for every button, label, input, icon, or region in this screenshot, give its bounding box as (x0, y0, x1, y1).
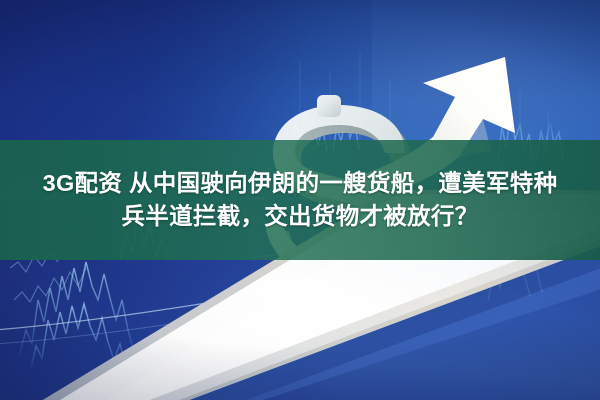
title-line-2: 兵半道拦截，交出货物才被放行？ (122, 200, 479, 233)
banner-image: 3G配资 从中国驶向伊朗的一艘货船，遭美军特种 兵半道拦截，交出货物才被放行？ (0, 0, 600, 400)
title-line-1: 3G配资 从中国驶向伊朗的一艘货船，遭美军特种 (43, 167, 558, 200)
title-band: 3G配资 从中国驶向伊朗的一艘货船，遭美军特种 兵半道拦截，交出货物才被放行？ (0, 140, 600, 260)
